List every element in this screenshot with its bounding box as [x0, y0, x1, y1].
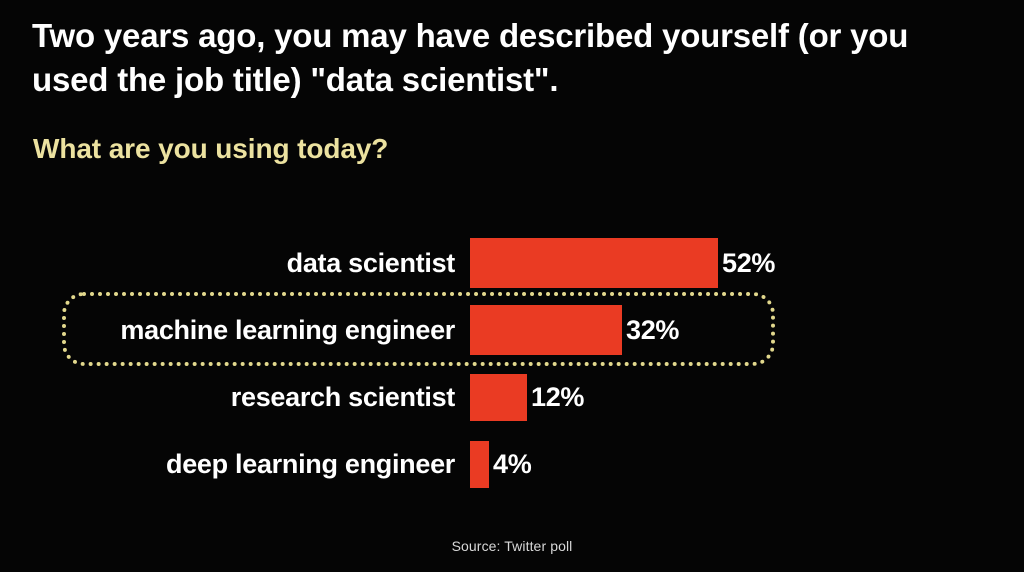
chart-row-research-scientist: research scientist 12% — [0, 374, 1024, 421]
subhead-text: What are you using today? — [33, 133, 388, 165]
slide-root: Two years ago, you may have described yo… — [0, 0, 1024, 572]
bar-rect — [470, 374, 527, 421]
bar-value-label: 52% — [722, 248, 775, 279]
bar-value-label: 4% — [493, 449, 531, 480]
bar-label: research scientist — [231, 382, 455, 413]
source-note: Source: Twitter poll — [0, 538, 1024, 554]
bar-rect — [470, 441, 489, 488]
bar-label: data scientist — [287, 248, 455, 279]
bar-rect — [470, 238, 718, 288]
bar-container: 32% — [470, 305, 679, 355]
chart-row-data-scientist: data scientist 52% — [0, 238, 1024, 288]
chart-row-machine-learning-engineer: machine learning engineer 32% — [0, 305, 1024, 355]
headline-text: Two years ago, you may have described yo… — [32, 14, 992, 102]
bar-value-label: 32% — [626, 315, 679, 346]
bar-label: machine learning engineer — [120, 315, 455, 346]
bar-value-label: 12% — [531, 382, 584, 413]
bar-chart: data scientist 52% machine learning engi… — [0, 225, 1024, 505]
bar-container: 4% — [470, 441, 531, 488]
chart-row-deep-learning-engineer: deep learning engineer 4% — [0, 441, 1024, 488]
bar-rect — [470, 305, 622, 355]
bar-label: deep learning engineer — [166, 449, 455, 480]
bar-container: 12% — [470, 374, 584, 421]
bar-container: 52% — [470, 238, 775, 288]
